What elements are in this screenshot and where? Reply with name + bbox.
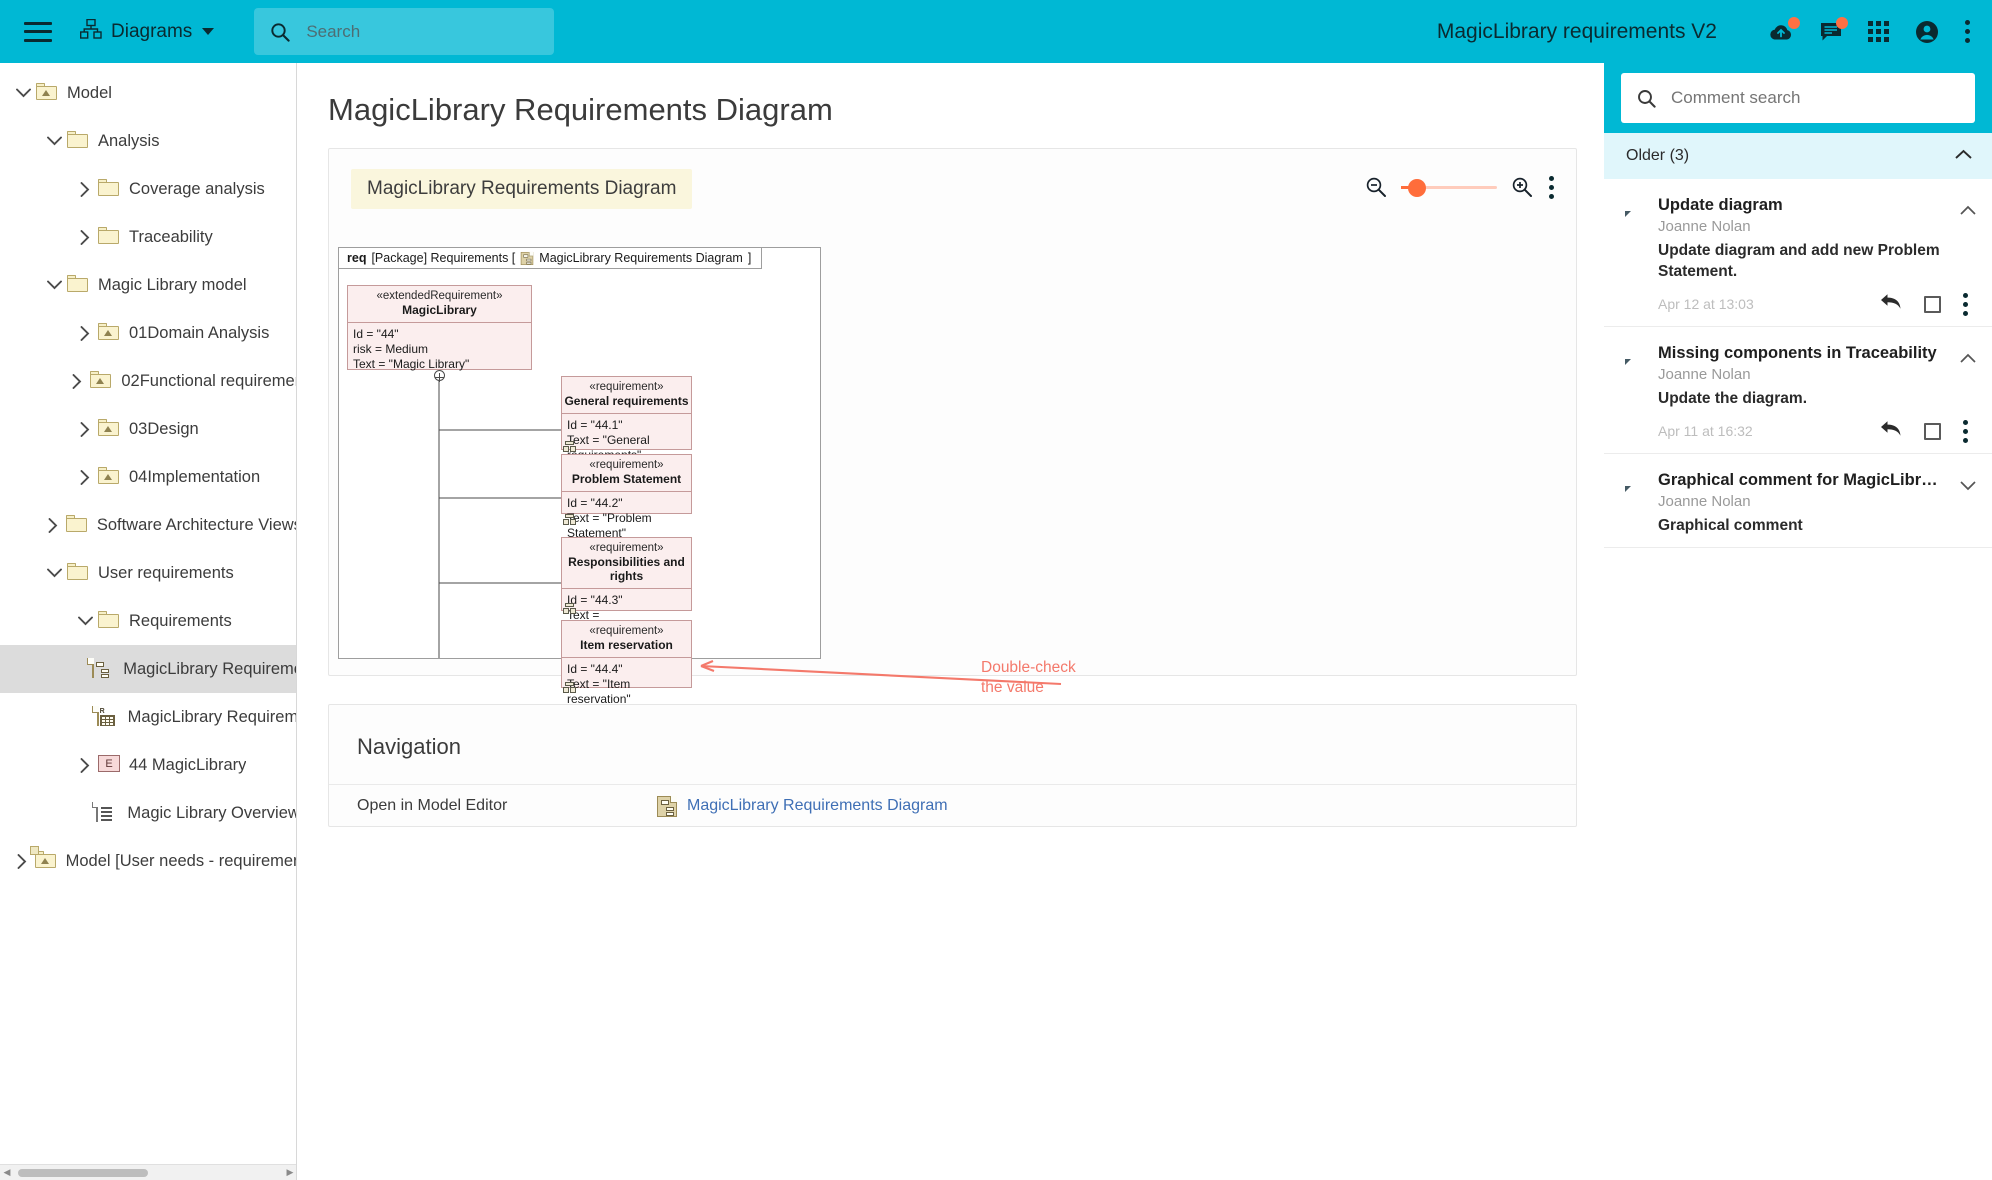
node-header: «extendedRequirement» MagicLibrary — [348, 286, 531, 323]
chevron-down-icon[interactable] — [41, 280, 67, 290]
cloud-badge — [1788, 17, 1800, 29]
tree-item-label: Magic Library model — [98, 276, 247, 295]
cloud-upload-icon[interactable] — [1768, 22, 1794, 42]
node-attributes: Id = "44" risk = Medium Text = "Magic Li… — [348, 323, 531, 376]
chevron-up-icon[interactable] — [1960, 203, 1976, 221]
sidebar-horizontal-scrollbar[interactable]: ◀ ▶ — [0, 1164, 297, 1180]
search-icon — [1637, 89, 1656, 108]
node-stereotype: «requirement» — [564, 381, 689, 393]
diagrams-app-label: Diagrams — [111, 21, 192, 43]
comment-text: Graphical comment — [1658, 516, 1974, 537]
tree-item-label: Magic Library Overview — [127, 804, 296, 823]
node-anchor-icon — [563, 441, 577, 453]
tree-item-label: Requirements — [129, 612, 232, 631]
chevron-up-icon[interactable] — [1960, 351, 1976, 369]
comment-title: Graphical comment for MagicLibrary Re… — [1658, 471, 1943, 490]
comment-bubble-icon — [1622, 487, 1650, 537]
tree-item[interactable]: RMagicLibrary Requirements Table — [0, 693, 296, 741]
search-icon — [270, 22, 290, 42]
node-anchor-icon — [563, 603, 577, 615]
tree-item-label: User requirements — [98, 564, 234, 583]
navigation-row: Open in Model Editor MagicLibrary Requir… — [329, 784, 1576, 827]
zoom-out-icon[interactable] — [1365, 176, 1387, 198]
open-in-model-editor-link[interactable]: MagicLibrary Requirements Diagram — [657, 796, 948, 817]
comment-actions — [1880, 293, 1974, 316]
tree-item[interactable]: 03Design — [0, 405, 296, 453]
node-anchor-icon — [563, 682, 577, 694]
chevron-up-icon[interactable] — [1955, 147, 1972, 165]
diagram-toolbar — [1365, 173, 1554, 201]
diagrams-icon — [80, 19, 102, 44]
tree-item[interactable]: Magic Library Overview — [0, 789, 296, 837]
node-attr: Text = "Magic Library" — [353, 357, 526, 372]
node-name: Problem Statement — [564, 472, 689, 486]
diagram-icon — [657, 796, 677, 817]
comment-date: Apr 11 at 16:32 — [1658, 423, 1880, 439]
node-stereotype: «requirement» — [564, 542, 689, 554]
tree-item-label: Analysis — [98, 132, 159, 151]
chevron-right-icon[interactable] — [64, 374, 90, 389]
chevron-down-icon[interactable] — [72, 616, 98, 626]
tree-item[interactable]: Model — [0, 69, 296, 117]
node-attr: Id = "44.3" — [567, 593, 686, 608]
tree-item[interactable]: Analysis — [0, 117, 296, 165]
chevron-down-icon[interactable] — [41, 568, 67, 578]
table-icon: R — [97, 706, 99, 726]
more-vert-icon[interactable] — [1965, 20, 1970, 43]
node-header: «requirement» Problem Statement — [562, 455, 691, 492]
chevron-down-icon[interactable] — [10, 88, 36, 98]
chevron-down-icon[interactable] — [1960, 478, 1976, 496]
node-header: «requirement» Item reservation — [562, 621, 691, 658]
tree-item-label: 02Functional requirements — [121, 372, 296, 391]
tree-item-label: 03Design — [129, 420, 199, 439]
comment-actions — [1880, 420, 1974, 443]
chevron-right-icon[interactable] — [72, 422, 98, 437]
comment-bubble-icon — [1622, 212, 1650, 316]
requirement-node[interactable]: «extendedRequirement» MagicLibrary Id = … — [347, 285, 532, 370]
diagrams-app-selector[interactable]: Diagrams — [80, 19, 214, 44]
node-name: General requirements — [564, 394, 689, 408]
diagram-more-icon[interactable] — [1549, 176, 1554, 199]
requirement-node[interactable]: «requirement» Responsibilities and right… — [561, 537, 692, 611]
page-title: MagicLibrary Requirements Diagram — [328, 92, 1604, 128]
model-tree: ModelAnalysisCoverage analysisTraceabili… — [0, 63, 296, 885]
top-app-bar: Diagrams Search MagicLibrary requirement… — [0, 0, 1992, 63]
tree-item[interactable]: Software Architecture Views — [0, 501, 296, 549]
sysml-diagram-frame: req [Package] Requirements [ MagicLibrar… — [338, 247, 821, 659]
node-attr: Text = "Item reservation" — [567, 677, 686, 707]
tree-item-label: Model — [67, 84, 112, 103]
comment-more-icon[interactable] — [1963, 420, 1968, 443]
search-input[interactable]: Search — [254, 8, 554, 55]
tree-item-label: Coverage analysis — [129, 180, 265, 199]
navigation-heading: Navigation — [329, 705, 1576, 760]
top-bar-actions — [1768, 0, 1970, 63]
tree-item-label: Traceability — [129, 228, 213, 247]
comments-group-header[interactable]: Older (3) — [1604, 133, 1992, 179]
chevron-right-icon[interactable] — [9, 854, 35, 869]
comment-text: Update diagram and add new Problem State… — [1658, 241, 1974, 283]
comment-item[interactable]: Update diagramJoanne NolanUpdate diagram… — [1604, 179, 1992, 327]
chevron-right-icon[interactable] — [72, 326, 98, 341]
model-tree-sidebar: ModelAnalysisCoverage analysisTraceabili… — [0, 63, 297, 1180]
chevron-down-icon[interactable] — [202, 28, 214, 35]
tree-item[interactable]: 04Implementation — [0, 453, 296, 501]
tree-item-label: 01Domain Analysis — [129, 324, 269, 343]
diagram-card: MagicLibrary Requirements Diagram — [328, 148, 1577, 676]
tree-item-label: 04Implementation — [129, 468, 260, 487]
tree-item[interactable]: 02Functional requirements — [0, 357, 296, 405]
node-name: Item reservation — [564, 638, 689, 652]
zoom-slider[interactable] — [1401, 173, 1497, 201]
comments-list: Update diagramJoanne NolanUpdate diagram… — [1604, 179, 1992, 548]
comment-badge — [1836, 17, 1848, 29]
zoom-slider-knob[interactable] — [1408, 179, 1426, 197]
node-name: MagicLibrary — [350, 303, 529, 317]
main-content: MagicLibrary Requirements Diagram MagicL… — [297, 63, 1604, 1180]
node-attr: Id = "44" — [353, 327, 526, 342]
navigation-card: Navigation Open in Model Editor MagicLib… — [328, 704, 1577, 827]
comment-author: Joanne Nolan — [1658, 366, 1974, 383]
node-stereotype: «requirement» — [564, 625, 689, 637]
element-icon: E — [98, 755, 120, 772]
search-placeholder: Search — [306, 22, 360, 42]
navigation-row-label: Open in Model Editor — [357, 797, 657, 815]
scrollbar-track[interactable] — [14, 1165, 283, 1180]
tree-item[interactable]: Requirements — [0, 597, 296, 645]
comment-title: Missing components in Traceability — [1658, 344, 1943, 363]
node-attr: Id = "44.2" — [567, 496, 686, 511]
comment-title: Update diagram — [1658, 196, 1943, 215]
chevron-right-icon[interactable] — [40, 518, 66, 533]
comment-author: Joanne Nolan — [1658, 493, 1974, 510]
tree-item-label: 44 MagicLibrary — [129, 756, 246, 775]
node-anchor-icon — [563, 514, 577, 526]
chevron-right-icon[interactable] — [72, 230, 98, 245]
comment-date: Apr 12 at 13:03 — [1658, 296, 1880, 312]
node-header: «requirement» Responsibilities and right… — [562, 538, 691, 589]
tree-item[interactable]: Coverage analysis — [0, 165, 296, 213]
node-attr: risk = Medium — [353, 342, 526, 357]
node-stereotype: «extendedRequirement» — [350, 290, 529, 302]
chevron-right-icon[interactable] — [72, 758, 98, 773]
comments-panel: Comment search Older (3) Update diagramJ… — [1604, 63, 1992, 1180]
comment-author: Joanne Nolan — [1658, 218, 1974, 235]
node-name: Responsibilities and rights — [564, 555, 689, 583]
scroll-right-arrow[interactable]: ▶ — [283, 1167, 297, 1178]
comment-more-icon[interactable] — [1963, 293, 1968, 316]
comment-text: Update the diagram. — [1658, 389, 1974, 410]
tree-item[interactable]: Magic Library model — [0, 261, 296, 309]
comment-bubble-icon — [1622, 360, 1650, 443]
node-header: «requirement» General requirements — [562, 377, 691, 414]
tree-item[interactable]: 01Domain Analysis — [0, 309, 296, 357]
node-stereotype: «requirement» — [564, 459, 689, 471]
comment-search-input[interactable]: Comment search — [1621, 73, 1975, 123]
document-icon — [96, 802, 98, 822]
apps-grid-icon[interactable] — [1868, 21, 1889, 42]
account-icon[interactable] — [1915, 20, 1939, 44]
tree-item-label: Model [User needs - requirements m — [66, 852, 296, 871]
resolve-checkbox[interactable] — [1924, 296, 1941, 313]
reply-icon[interactable] — [1880, 420, 1902, 442]
requirement-node[interactable]: «requirement» Problem Statement Id = "44… — [561, 454, 692, 514]
comment-search-wrap: Comment search — [1604, 63, 1992, 133]
comment-icon[interactable] — [1820, 22, 1842, 42]
annotation-line-2: the value — [981, 678, 1076, 698]
comment-item[interactable]: Missing components in TraceabilityJoanne… — [1604, 327, 1992, 454]
comment-footer: Apr 12 at 13:03 — [1658, 293, 1974, 316]
comments-group-label: Older (3) — [1626, 147, 1689, 165]
scrollbar-thumb[interactable] — [18, 1169, 148, 1177]
scroll-left-arrow[interactable]: ◀ — [0, 1167, 14, 1178]
annotation-text: Double-check the value — [981, 658, 1076, 698]
annotation-line-1: Double-check — [981, 658, 1076, 678]
node-attr: Id = "44.1" — [567, 418, 686, 433]
comment-search-placeholder: Comment search — [1671, 88, 1800, 108]
chevron-down-icon[interactable] — [41, 136, 67, 146]
navigation-link-label: MagicLibrary Requirements Diagram — [687, 797, 948, 815]
hamburger-icon[interactable] — [24, 22, 52, 42]
tree-item-label: MagicLibrary Requirements Diagram — [123, 660, 296, 679]
chevron-right-icon[interactable] — [72, 470, 98, 485]
node-attr: Id = "44.4" — [567, 662, 686, 677]
tree-item[interactable]: Model [User needs - requirements m — [0, 837, 296, 885]
tree-item[interactable]: Traceability — [0, 213, 296, 261]
tree-item-label: Software Architecture Views — [97, 516, 296, 535]
tree-item-label: MagicLibrary Requirements Table — [128, 708, 296, 727]
diagram-name-badge: MagicLibrary Requirements Diagram — [351, 169, 692, 209]
reply-icon[interactable] — [1880, 293, 1902, 315]
diagram-icon — [92, 658, 94, 678]
project-title: MagicLibrary requirements V2 — [1437, 20, 1717, 44]
chevron-right-icon[interactable] — [72, 182, 98, 197]
zoom-in-icon[interactable] — [1511, 176, 1533, 198]
requirement-node[interactable]: «requirement» General requirements Id = … — [561, 376, 692, 450]
tree-item[interactable]: E44 MagicLibrary — [0, 741, 296, 789]
resolve-checkbox[interactable] — [1924, 423, 1941, 440]
comment-footer: Apr 11 at 16:32 — [1658, 420, 1974, 443]
tree-item[interactable]: User requirements — [0, 549, 296, 597]
comment-item[interactable]: Graphical comment for MagicLibrary Re…Jo… — [1604, 454, 1992, 548]
requirement-node[interactable]: «requirement» Item reservation Id = "44.… — [561, 620, 692, 688]
tree-item[interactable]: MagicLibrary Requirements Diagram — [0, 645, 296, 693]
